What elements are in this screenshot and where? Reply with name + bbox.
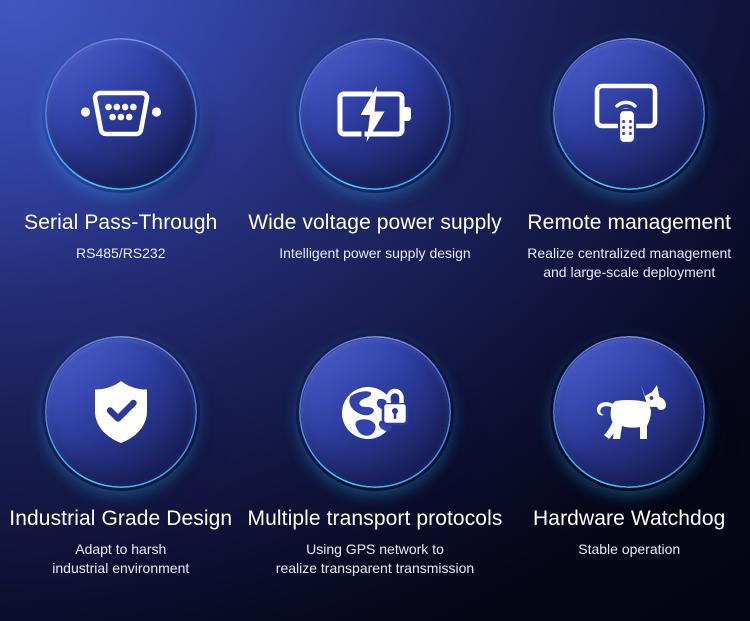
battery-charging-icon: [336, 86, 414, 142]
feature-text-block: Industrial Grade Design Adapt to harsh i…: [0, 506, 242, 578]
feature-card-remote-management[interactable]: Remote management Realize centralized ma…: [508, 0, 750, 311]
feature-subtitle: Adapt to harsh industrial environment: [6, 540, 236, 578]
icon-badge: [301, 338, 449, 486]
feature-card-hardware-watchdog[interactable]: Hardware Watchdog Stable operation: [508, 311, 750, 621]
icon-badge-circle: [47, 338, 195, 486]
feature-title: Industrial Grade Design: [6, 506, 236, 531]
feature-title: Wide voltage power supply: [248, 210, 503, 235]
feature-subtitle: Intelligent power supply design: [248, 244, 503, 263]
icon-badge-circle: [555, 338, 703, 486]
feature-text-block: Multiple transport protocols Using GPS n…: [242, 506, 509, 578]
icon-badge: [47, 338, 195, 486]
feature-subtitle: Stable operation: [514, 540, 744, 559]
watchdog-icon: [589, 381, 669, 443]
icon-badge-circle: [555, 40, 703, 188]
feature-card-multiple-transport-protocols[interactable]: Multiple transport protocols Using GPS n…: [242, 311, 509, 621]
monitor-remote-icon: [592, 81, 666, 147]
feature-card-serial-pass-through[interactable]: Serial Pass-Through RS485/RS232: [0, 0, 242, 311]
feature-grid: Serial Pass-Through RS485/RS232: [0, 0, 750, 621]
feature-subtitle: Realize centralized management and large…: [514, 244, 744, 282]
feature-card-industrial-grade-design[interactable]: Industrial Grade Design Adapt to harsh i…: [0, 311, 242, 621]
feature-subtitle: RS485/RS232: [6, 244, 236, 263]
icon-badge-circle: [301, 40, 449, 188]
globe-lock-icon: [339, 379, 411, 445]
icon-badge: [47, 40, 195, 188]
feature-subtitle: Using GPS network to realize transparent…: [248, 540, 503, 578]
feature-card-wide-voltage-power-supply[interactable]: Wide voltage power supply Intelligent po…: [242, 0, 509, 311]
feature-title: Multiple transport protocols: [248, 506, 503, 531]
feature-text-block: Wide voltage power supply Intelligent po…: [242, 210, 509, 263]
icon-badge: [555, 338, 703, 486]
feature-text-block: Serial Pass-Through RS485/RS232: [0, 210, 242, 263]
serial-port-icon: [80, 84, 162, 144]
feature-text-block: Remote management Realize centralized ma…: [508, 210, 750, 282]
icon-badge-circle: [301, 338, 449, 486]
feature-title: Serial Pass-Through: [6, 210, 236, 235]
icon-badge: [301, 40, 449, 188]
icon-badge: [555, 40, 703, 188]
feature-title: Hardware Watchdog: [514, 506, 744, 531]
feature-text-block: Hardware Watchdog Stable operation: [508, 506, 750, 559]
shield-check-icon: [92, 379, 150, 445]
icon-badge-circle: [47, 40, 195, 188]
feature-title: Remote management: [514, 210, 744, 235]
